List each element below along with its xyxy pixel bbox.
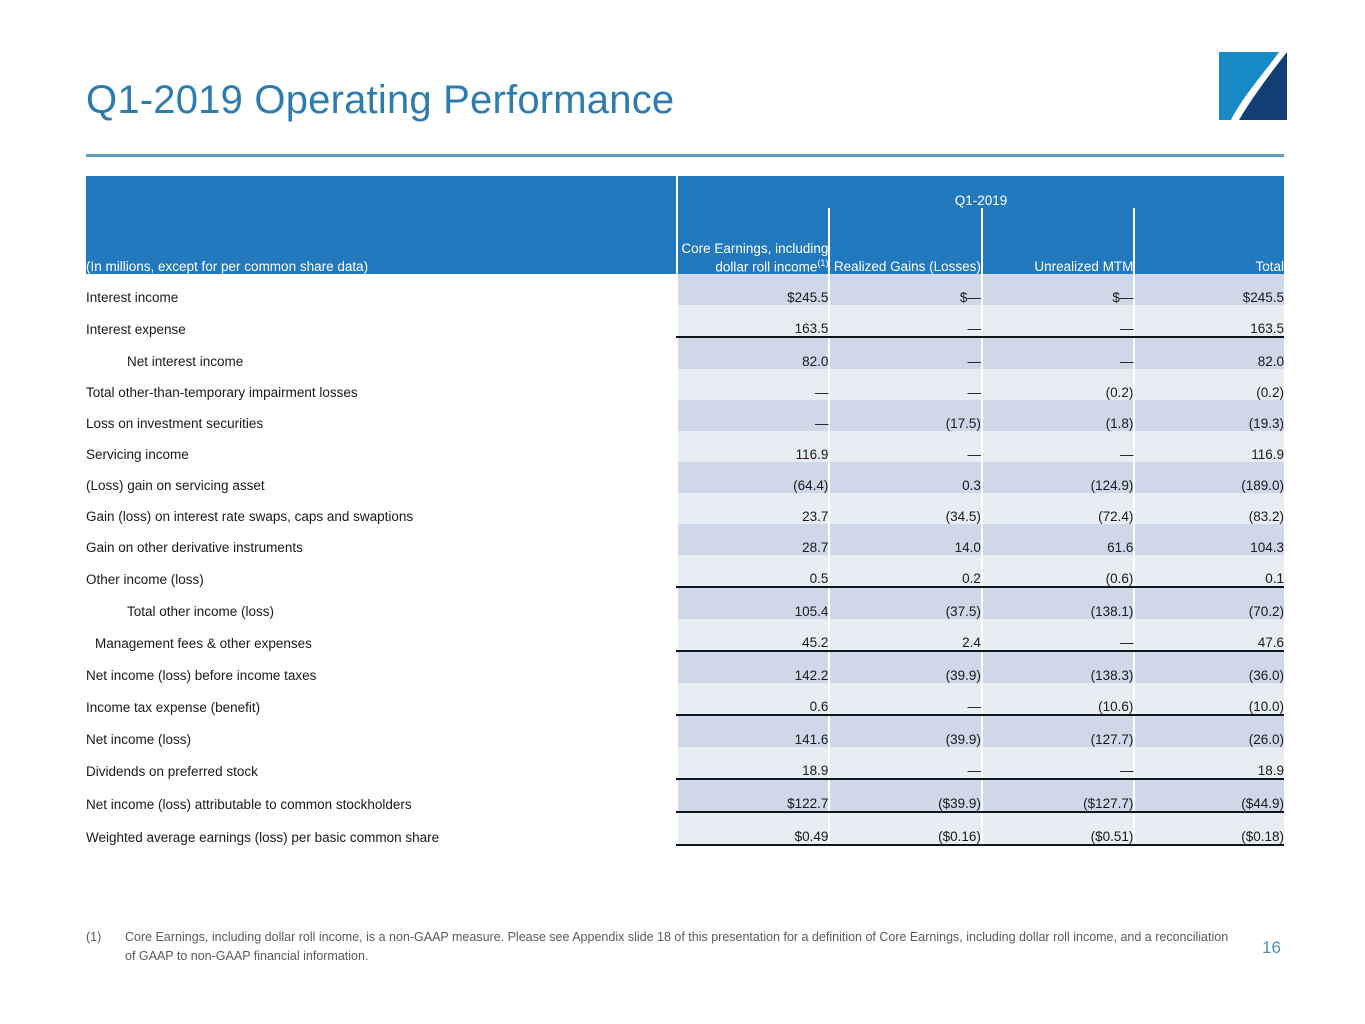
column-header-unrealized-mtm: Unrealized MTM	[982, 208, 1135, 274]
row-label: Servicing income	[86, 431, 677, 462]
column-header-realized-gains: Realized Gains (Losses)	[829, 208, 982, 274]
row-value: $122.7	[677, 779, 830, 812]
row-value: (83.2)	[1134, 493, 1284, 524]
row-value: (0.2)	[982, 369, 1135, 400]
row-value: (17.5)	[829, 400, 982, 431]
row-value: 23.7	[677, 493, 830, 524]
row-value: (34.5)	[829, 493, 982, 524]
row-value: (10.6)	[982, 683, 1135, 715]
row-label: Total other-than-temporary impairment lo…	[86, 369, 677, 400]
page-title: Q1-2019 Operating Performance	[86, 78, 674, 123]
row-value: 14.0	[829, 524, 982, 555]
row-value: (26.0)	[1134, 715, 1284, 747]
column-header-core-earnings-label: Core Earnings, including dollar roll inc…	[681, 241, 828, 275]
row-value: (19.3)	[1134, 400, 1284, 431]
row-value: (70.2)	[1134, 587, 1284, 619]
unit-label: (In millions, except for per common shar…	[86, 208, 677, 274]
row-label: Income tax expense (benefit)	[86, 683, 677, 715]
row-value: 163.5	[1134, 305, 1284, 337]
table-row: Net income (loss) before income taxes142…	[86, 651, 1284, 683]
row-label: Interest income	[86, 274, 677, 305]
row-value: —	[829, 683, 982, 715]
row-value: —	[829, 305, 982, 337]
row-value: 0.1	[1134, 555, 1284, 587]
row-value: $245.5	[677, 274, 830, 305]
table-row: Gain (loss) on interest rate swaps, caps…	[86, 493, 1284, 524]
row-value: 61.6	[982, 524, 1135, 555]
table-row: Interest expense163.5——163.5	[86, 305, 1284, 337]
row-label: Net income (loss) before income taxes	[86, 651, 677, 683]
row-label: Other income (loss)	[86, 555, 677, 587]
row-value: 0.2	[829, 555, 982, 587]
row-label: Interest expense	[86, 305, 677, 337]
row-value: $—	[829, 274, 982, 305]
company-logo	[1217, 50, 1289, 122]
row-value: —	[829, 337, 982, 369]
row-value: 47.6	[1134, 619, 1284, 651]
row-label: Gain on other derivative instruments	[86, 524, 677, 555]
row-value: 0.6	[677, 683, 830, 715]
row-value: (39.9)	[829, 715, 982, 747]
row-value: (0.6)	[982, 555, 1135, 587]
table-row: Net interest income82.0——82.0	[86, 337, 1284, 369]
row-value: 18.9	[677, 747, 830, 779]
table-row: Dividends on preferred stock18.9——18.9	[86, 747, 1284, 779]
row-label: Management fees & other expenses	[86, 619, 677, 651]
row-value: (189.0)	[1134, 462, 1284, 493]
table-row: Total other income (loss)105.4(37.5)(138…	[86, 587, 1284, 619]
column-header-total: Total	[1134, 208, 1284, 274]
row-value: —	[982, 305, 1135, 337]
row-value: ($127.7)	[982, 779, 1135, 812]
row-value: $—	[982, 274, 1135, 305]
row-value: (138.3)	[982, 651, 1135, 683]
row-value: 116.9	[1134, 431, 1284, 462]
row-value: 116.9	[677, 431, 830, 462]
row-value: ($0.51)	[982, 812, 1135, 845]
row-value: 28.7	[677, 524, 830, 555]
row-value: —	[982, 619, 1135, 651]
row-label: (Loss) gain on servicing asset	[86, 462, 677, 493]
table-row: Servicing income116.9——116.9	[86, 431, 1284, 462]
row-value: (64.4)	[677, 462, 830, 493]
row-value: 163.5	[677, 305, 830, 337]
row-value: 2.4	[829, 619, 982, 651]
table-row: Management fees & other expenses45.22.4—…	[86, 619, 1284, 651]
table-row: Total other-than-temporary impairment lo…	[86, 369, 1284, 400]
row-value: —	[677, 369, 830, 400]
footnote: (1) Core Earnings, including dollar roll…	[86, 928, 1236, 966]
page-number: 16	[1262, 938, 1281, 958]
header-spacer	[86, 176, 677, 208]
table-header-columns-row: (In millions, except for per common shar…	[86, 208, 1284, 274]
table-row: Income tax expense (benefit)0.6—(10.6)(1…	[86, 683, 1284, 715]
table-row: Loss on investment securities—(17.5)(1.8…	[86, 400, 1284, 431]
row-value: 0.5	[677, 555, 830, 587]
row-value: (10.0)	[1134, 683, 1284, 715]
footnote-marker-icon: (1)	[817, 258, 828, 268]
operating-performance-table: Q1-2019 (In millions, except for per com…	[86, 176, 1284, 846]
row-value: 0.3	[829, 462, 982, 493]
row-value: ($0.16)	[829, 812, 982, 845]
row-value: (124.9)	[982, 462, 1135, 493]
row-label: Net income (loss) attributable to common…	[86, 779, 677, 812]
table-row: Weighted average earnings (loss) per bas…	[86, 812, 1284, 845]
row-value: 45.2	[677, 619, 830, 651]
row-value: (37.5)	[829, 587, 982, 619]
row-label: Total other income (loss)	[86, 587, 677, 619]
row-value: 105.4	[677, 587, 830, 619]
table-header-period-row: Q1-2019	[86, 176, 1284, 208]
row-value: —	[829, 431, 982, 462]
row-value: ($39.9)	[829, 779, 982, 812]
table-row: Net income (loss) attributable to common…	[86, 779, 1284, 812]
title-divider	[86, 154, 1284, 157]
row-value: (1.8)	[982, 400, 1135, 431]
row-label: Dividends on preferred stock	[86, 747, 677, 779]
row-value: 82.0	[677, 337, 830, 369]
row-value: (127.7)	[982, 715, 1135, 747]
row-label: Loss on investment securities	[86, 400, 677, 431]
period-header: Q1-2019	[677, 176, 1284, 208]
row-label: Weighted average earnings (loss) per bas…	[86, 812, 677, 845]
row-value: 142.2	[677, 651, 830, 683]
row-value: 104.3	[1134, 524, 1284, 555]
footnote-marker: (1)	[86, 928, 101, 947]
table-row: Gain on other derivative instruments28.7…	[86, 524, 1284, 555]
table-row: (Loss) gain on servicing asset(64.4)0.3(…	[86, 462, 1284, 493]
table-row: Other income (loss)0.50.2(0.6)0.1	[86, 555, 1284, 587]
row-value: —	[982, 747, 1135, 779]
row-value: ($0.18)	[1134, 812, 1284, 845]
row-value: 141.6	[677, 715, 830, 747]
row-value: (138.1)	[982, 587, 1135, 619]
table-row: Interest income$245.5$—$—$245.5	[86, 274, 1284, 305]
row-value: (39.9)	[829, 651, 982, 683]
row-value: 18.9	[1134, 747, 1284, 779]
row-value: $245.5	[1134, 274, 1284, 305]
row-label: Gain (loss) on interest rate swaps, caps…	[86, 493, 677, 524]
row-value: —	[677, 400, 830, 431]
row-value: ($44.9)	[1134, 779, 1284, 812]
row-value: —	[982, 337, 1135, 369]
row-value: —	[982, 431, 1135, 462]
row-value: —	[829, 747, 982, 779]
column-header-core-earnings: Core Earnings, including dollar roll inc…	[677, 208, 830, 274]
footnote-text: Core Earnings, including dollar roll inc…	[86, 928, 1236, 966]
row-label: Net interest income	[86, 337, 677, 369]
table-row: Net income (loss)141.6(39.9)(127.7)(26.0…	[86, 715, 1284, 747]
row-value: (0.2)	[1134, 369, 1284, 400]
row-value: $0.49	[677, 812, 830, 845]
row-value: —	[829, 369, 982, 400]
row-label: Net income (loss)	[86, 715, 677, 747]
row-value: 82.0	[1134, 337, 1284, 369]
table-body: Interest income$245.5$—$—$245.5Interest …	[86, 274, 1284, 845]
row-value: (36.0)	[1134, 651, 1284, 683]
row-value: (72.4)	[982, 493, 1135, 524]
